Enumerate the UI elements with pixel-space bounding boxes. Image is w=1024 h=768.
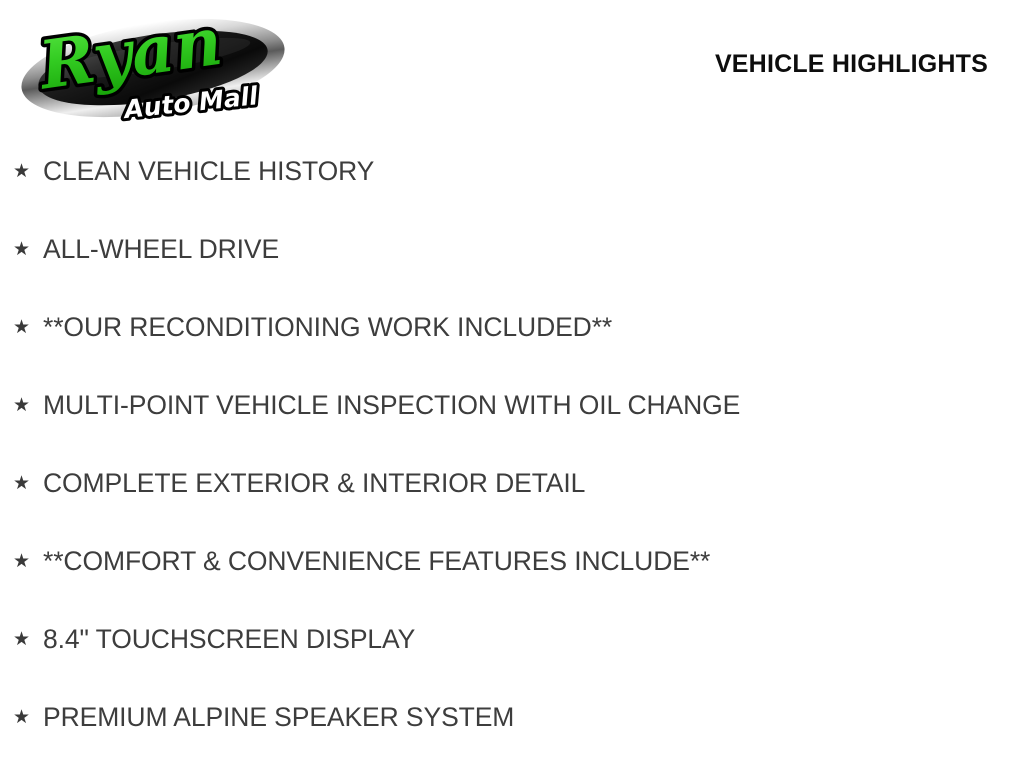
star-bullet-icon: ★ [13, 162, 43, 181]
list-item: ★ CLEAN VEHICLE HISTORY [0, 143, 1024, 199]
star-bullet-icon: ★ [13, 240, 43, 259]
list-item: ★ COMPLETE EXTERIOR & INTERIOR DETAIL [0, 455, 1024, 511]
star-bullet-icon: ★ [13, 396, 43, 415]
star-bullet-icon: ★ [13, 552, 43, 571]
ryan-auto-mall-logo: Ryan Auto Mall [12, 6, 294, 122]
vehicle-highlights-list: ★ CLEAN VEHICLE HISTORY ★ ALL-WHEEL DRIV… [0, 143, 1024, 767]
highlight-label: **COMFORT & CONVENIENCE FEATURES INCLUDE… [43, 546, 710, 576]
highlight-label: PREMIUM ALPINE SPEAKER SYSTEM [43, 702, 514, 732]
highlight-label: 8.4" TOUCHSCREEN DISPLAY [43, 624, 415, 654]
highlight-label: ALL-WHEEL DRIVE [43, 234, 279, 264]
list-item: ★ ALL-WHEEL DRIVE [0, 221, 1024, 277]
star-bullet-icon: ★ [13, 474, 43, 493]
star-bullet-icon: ★ [13, 318, 43, 337]
vehicle-highlights-page: Ryan Auto Mall VEHICLE HIGHLIGHTS ★ CLEA… [0, 0, 1024, 768]
highlight-label: MULTI-POINT VEHICLE INSPECTION WITH OIL … [43, 390, 740, 420]
list-item: ★ MULTI-POINT VEHICLE INSPECTION WITH OI… [0, 377, 1024, 433]
page-header: Ryan Auto Mall VEHICLE HIGHLIGHTS [0, 0, 1024, 130]
highlight-label: COMPLETE EXTERIOR & INTERIOR DETAIL [43, 468, 585, 498]
list-item: ★ **OUR RECONDITIONING WORK INCLUDED** [0, 299, 1024, 355]
highlight-label: **OUR RECONDITIONING WORK INCLUDED** [43, 312, 612, 342]
list-item: ★ 8.4" TOUCHSCREEN DISPLAY [0, 611, 1024, 667]
list-item: ★ PREMIUM ALPINE SPEAKER SYSTEM [0, 689, 1024, 745]
page-title: VEHICLE HIGHLIGHTS [715, 50, 988, 79]
star-bullet-icon: ★ [13, 708, 43, 727]
highlight-label: CLEAN VEHICLE HISTORY [43, 156, 374, 186]
list-item: ★ **COMFORT & CONVENIENCE FEATURES INCLU… [0, 533, 1024, 589]
star-bullet-icon: ★ [13, 630, 43, 649]
